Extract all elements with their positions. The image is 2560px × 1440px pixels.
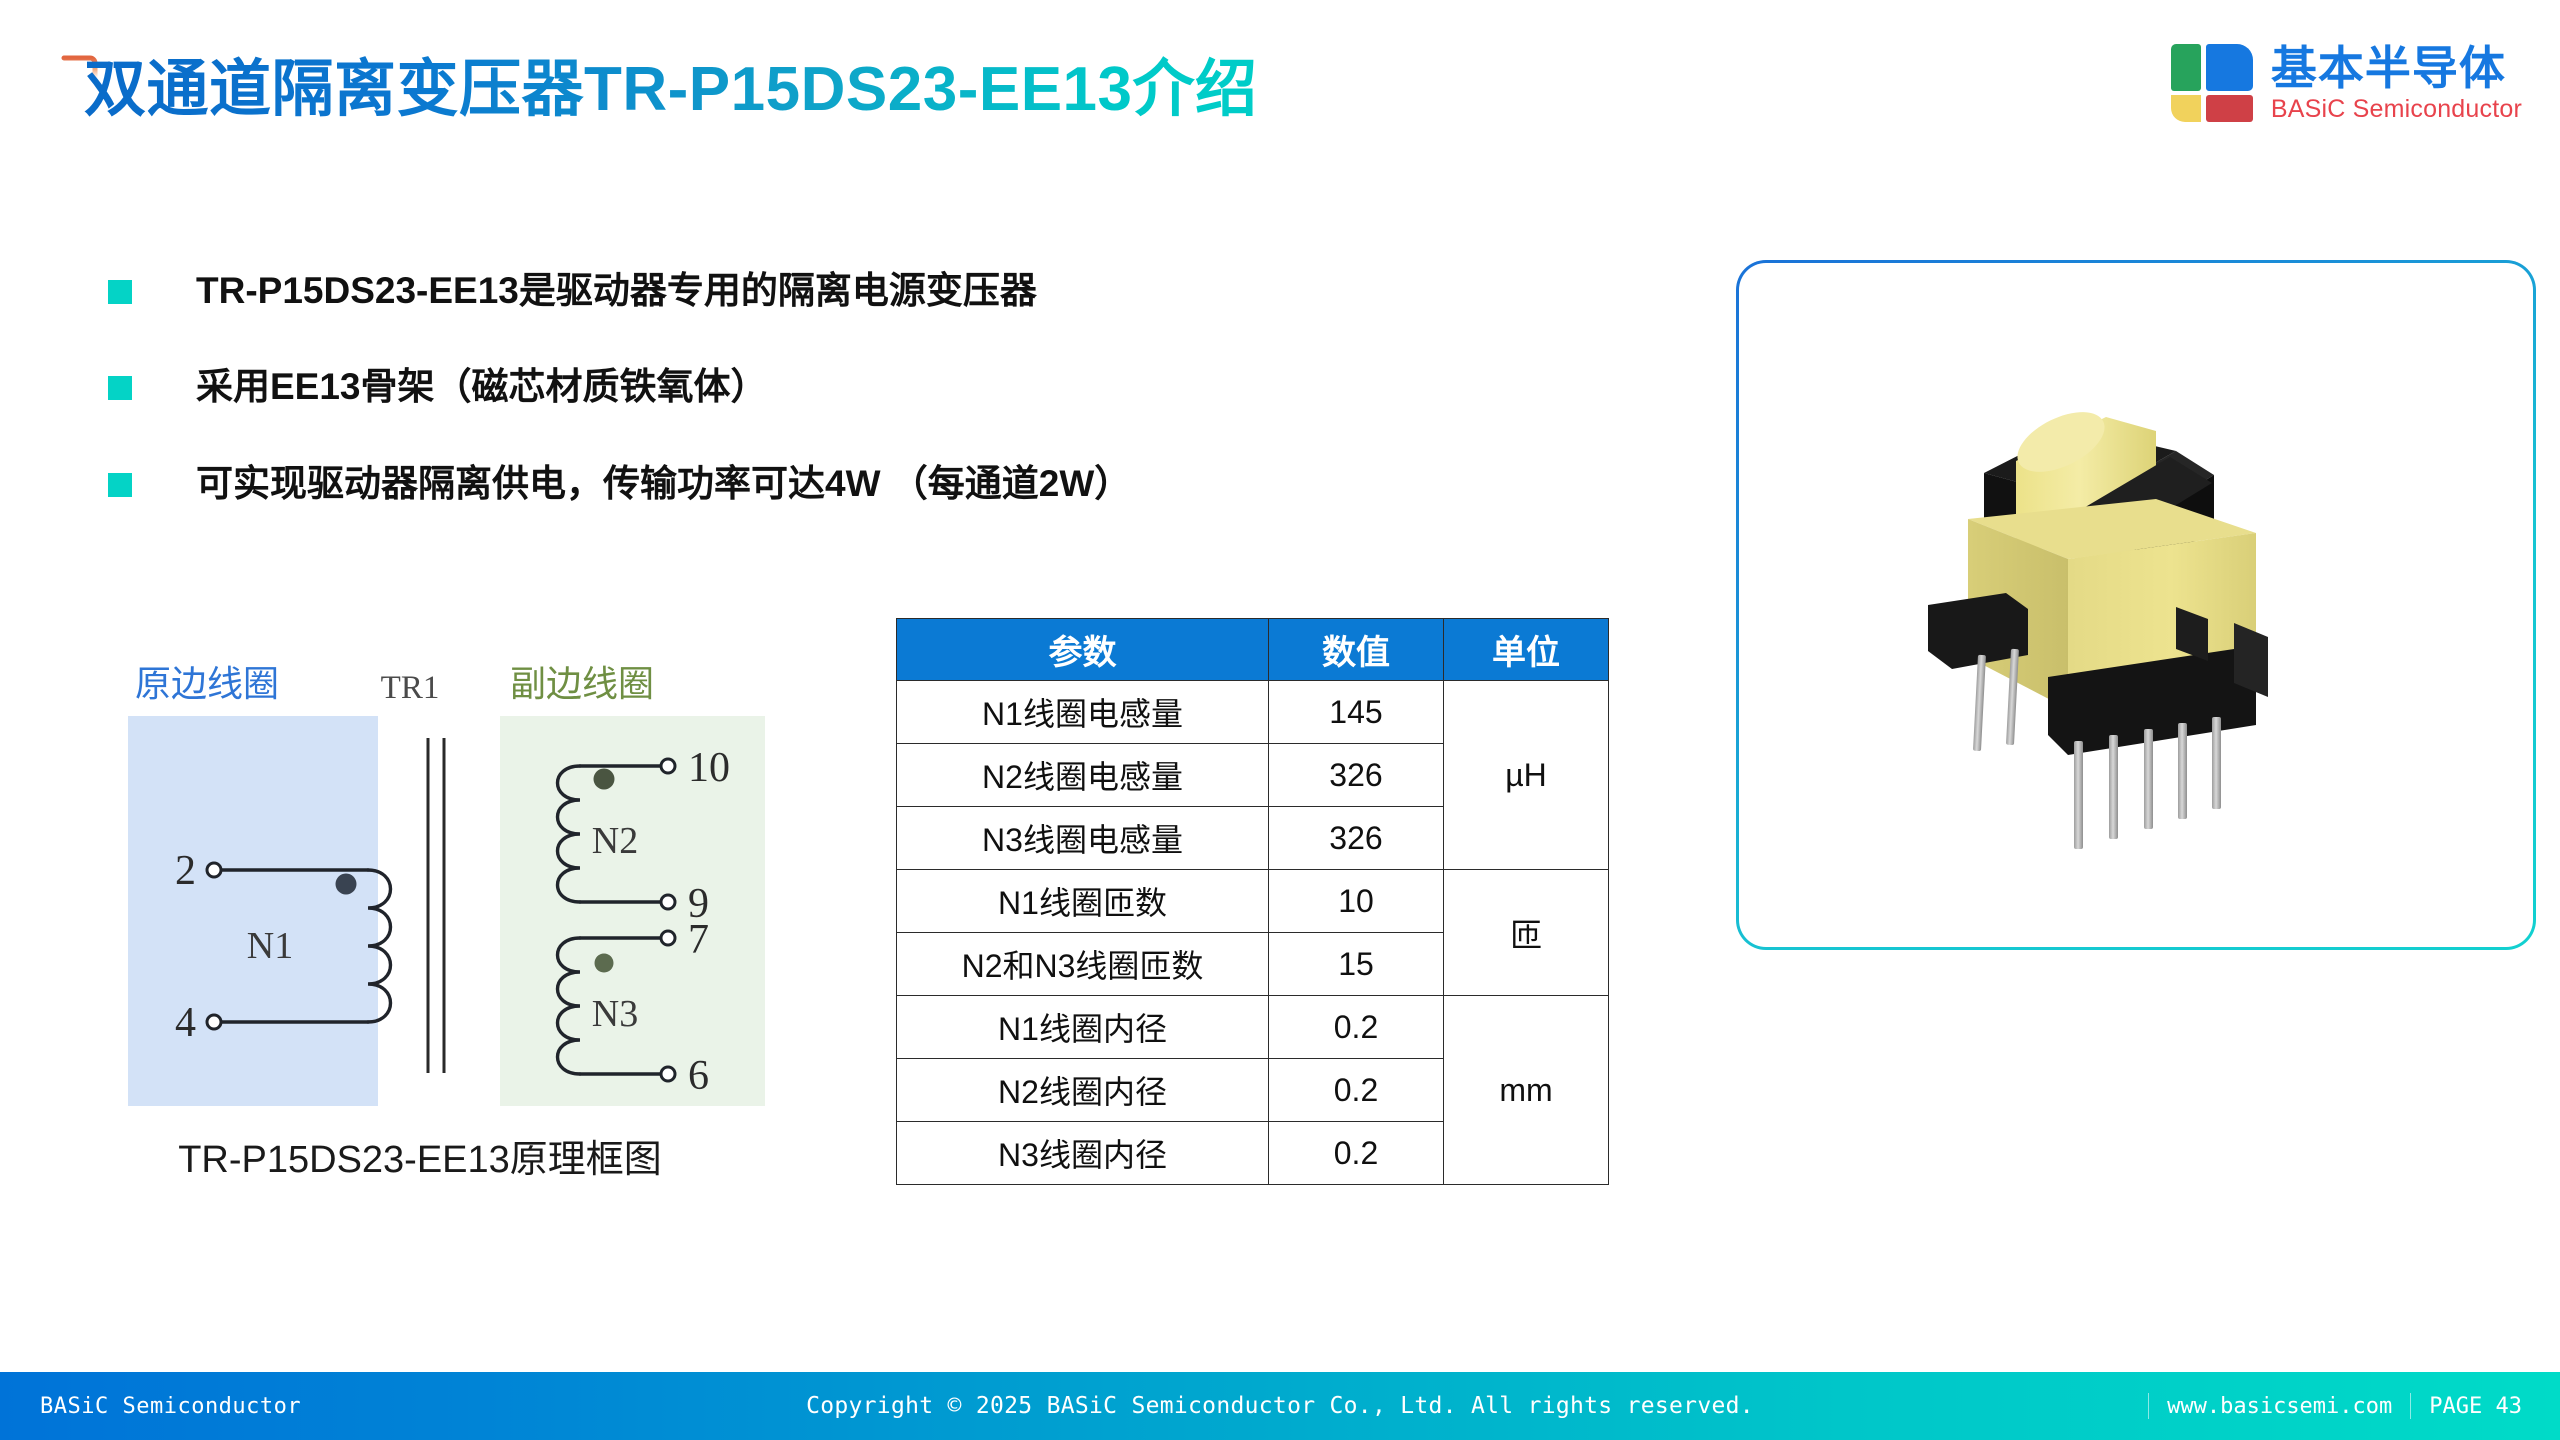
footer-divider xyxy=(2148,1393,2149,1419)
transformer-label: TR1 xyxy=(381,670,440,706)
column-header-unit: 单位 xyxy=(1444,619,1609,681)
n2-winding-label: N2 xyxy=(592,820,638,862)
cell-value: 145 xyxy=(1269,681,1444,744)
pin xyxy=(1973,655,1986,751)
logo-tile-yellow xyxy=(2171,95,2201,122)
pin-number-7: 7 xyxy=(688,917,709,963)
slide-footer: BASiC Semiconductor Copyright © 2025 BAS… xyxy=(0,1372,2560,1440)
logo-english-name: BASiC Semiconductor xyxy=(2271,97,2522,122)
primary-side-label: 原边线圈 xyxy=(135,663,279,704)
schematic-caption: TR-P15DS23-EE13原理框图 xyxy=(110,1128,730,1183)
schematic-diagram: 原边线圈 TR1 副边线圈 N1 N2 N3 2 4 10 9 7 6 TR-P… xyxy=(110,648,790,1183)
footer-divider xyxy=(2410,1393,2411,1419)
n2-polarity-dot xyxy=(594,769,615,790)
terminal-pin-7 xyxy=(661,931,675,945)
product-photo-card-inner xyxy=(1739,263,2533,947)
pin xyxy=(2144,729,2153,829)
table-row: N1线圈内径 0.2 mm xyxy=(897,996,1609,1059)
brand-logo: 基本半导体 BASiC Semiconductor xyxy=(2171,44,2522,122)
pin-number-10: 10 xyxy=(688,745,730,791)
logo-tile-blue xyxy=(2206,44,2253,91)
terminal-pin-10 xyxy=(661,759,675,773)
pin-number-2: 2 xyxy=(175,848,196,894)
list-item: TR-P15DS23-EE13是驱动器专用的隔离电源变压器 xyxy=(108,268,1308,314)
cell-value: 15 xyxy=(1269,933,1444,996)
primary-polarity-dot xyxy=(336,874,357,895)
cell-param: N3线圈内径 xyxy=(897,1122,1269,1185)
pin xyxy=(2109,735,2118,839)
pin xyxy=(2178,723,2187,819)
footer-page-number: PAGE 43 xyxy=(2429,1394,2522,1419)
secondary-side-label: 副边线圈 xyxy=(510,663,654,704)
logo-tile-green xyxy=(2171,44,2201,91)
logo-chinese-name: 基本半导体 xyxy=(2271,45,2522,91)
cell-value: 326 xyxy=(1269,744,1444,807)
cell-param: N2线圈内径 xyxy=(897,1059,1269,1122)
schematic-svg: 原边线圈 TR1 副边线圈 N1 N2 N3 2 4 10 9 7 6 xyxy=(110,648,770,1118)
feature-bullet-list: TR-P15DS23-EE13是驱动器专用的隔离电源变压器 采用EE13骨架（磁… xyxy=(108,268,1308,557)
cell-param: N1线圈电感量 xyxy=(897,681,1269,744)
column-header-value: 数值 xyxy=(1269,619,1444,681)
cell-param: N3线圈电感量 xyxy=(897,807,1269,870)
n1-winding-label: N1 xyxy=(247,925,293,967)
cell-value: 326 xyxy=(1269,807,1444,870)
table-row: N1线圈电感量 145 µH xyxy=(897,681,1609,744)
list-item: 采用EE13骨架（磁芯材质铁氧体） xyxy=(108,364,1308,410)
footer-right-group: www.basicsemi.com PAGE 43 xyxy=(2148,1393,2522,1419)
slide-header: 双通道隔离变压器TR-P15DS23-EE13介绍 基本半导体 BASiC Se… xyxy=(0,0,2560,175)
cell-param: N2线圈电感量 xyxy=(897,744,1269,807)
cell-value: 10 xyxy=(1269,870,1444,933)
parameter-table-container: 参数 数值 单位 N1线圈电感量 145 µH N2线圈电感量 326 N3线圈… xyxy=(896,618,1609,1185)
cell-value: 0.2 xyxy=(1269,1059,1444,1122)
pin-number-6: 6 xyxy=(688,1053,709,1099)
terminal-pin-2 xyxy=(207,863,221,877)
terminal-pin-4 xyxy=(207,1015,221,1029)
cell-param: N2和N3线圈匝数 xyxy=(897,933,1269,996)
basic-semiconductor-logo-icon xyxy=(2171,44,2253,122)
cell-unit: µH xyxy=(1444,681,1609,870)
table-header-row: 参数 数值 单位 xyxy=(897,619,1609,681)
parameter-table: 参数 数值 单位 N1线圈电感量 145 µH N2线圈电感量 326 N3线圈… xyxy=(896,618,1609,1185)
logo-tile-red xyxy=(2206,95,2253,122)
list-item: 可实现驱动器隔离供电，传输功率可达4W （每通道2W） xyxy=(108,461,1308,507)
n3-polarity-dot xyxy=(595,954,614,973)
pin-number-4: 4 xyxy=(175,1000,196,1046)
cell-value: 0.2 xyxy=(1269,1122,1444,1185)
terminal-pin-6 xyxy=(661,1067,675,1081)
cell-param: N1线圈匝数 xyxy=(897,870,1269,933)
table-row: N1线圈匝数 10 匝 xyxy=(897,870,1609,933)
page-title: 双通道隔离变压器TR-P15DS23-EE13介绍 xyxy=(84,38,1258,128)
ee13-transformer-photo xyxy=(1856,305,2416,905)
bullet-text: 采用EE13骨架（磁芯材质铁氧体） xyxy=(196,364,768,410)
pin xyxy=(2212,717,2221,809)
cell-unit: mm xyxy=(1444,996,1609,1185)
cell-unit: 匝 xyxy=(1444,870,1609,996)
cell-param: N1线圈内径 xyxy=(897,996,1269,1059)
footer-website-link[interactable]: www.basicsemi.com xyxy=(2167,1394,2392,1419)
bullet-square-icon xyxy=(108,473,132,497)
primary-panel xyxy=(128,716,378,1106)
terminal-pin-9 xyxy=(661,895,675,909)
column-header-param: 参数 xyxy=(897,619,1269,681)
bullet-square-icon xyxy=(108,280,132,304)
bullet-text: 可实现驱动器隔离供电，传输功率可达4W （每通道2W） xyxy=(196,461,1131,507)
footer-brand: BASiC Semiconductor xyxy=(40,1394,301,1419)
n3-winding-label: N3 xyxy=(592,993,638,1035)
cell-value: 0.2 xyxy=(1269,996,1444,1059)
product-photo-card xyxy=(1736,260,2536,950)
pin xyxy=(2074,741,2083,849)
bullet-text: TR-P15DS23-EE13是驱动器专用的隔离电源变压器 xyxy=(196,268,1037,314)
footer-copyright: Copyright © 2025 BASiC Semiconductor Co.… xyxy=(806,1393,1754,1419)
bullet-square-icon xyxy=(108,376,132,400)
